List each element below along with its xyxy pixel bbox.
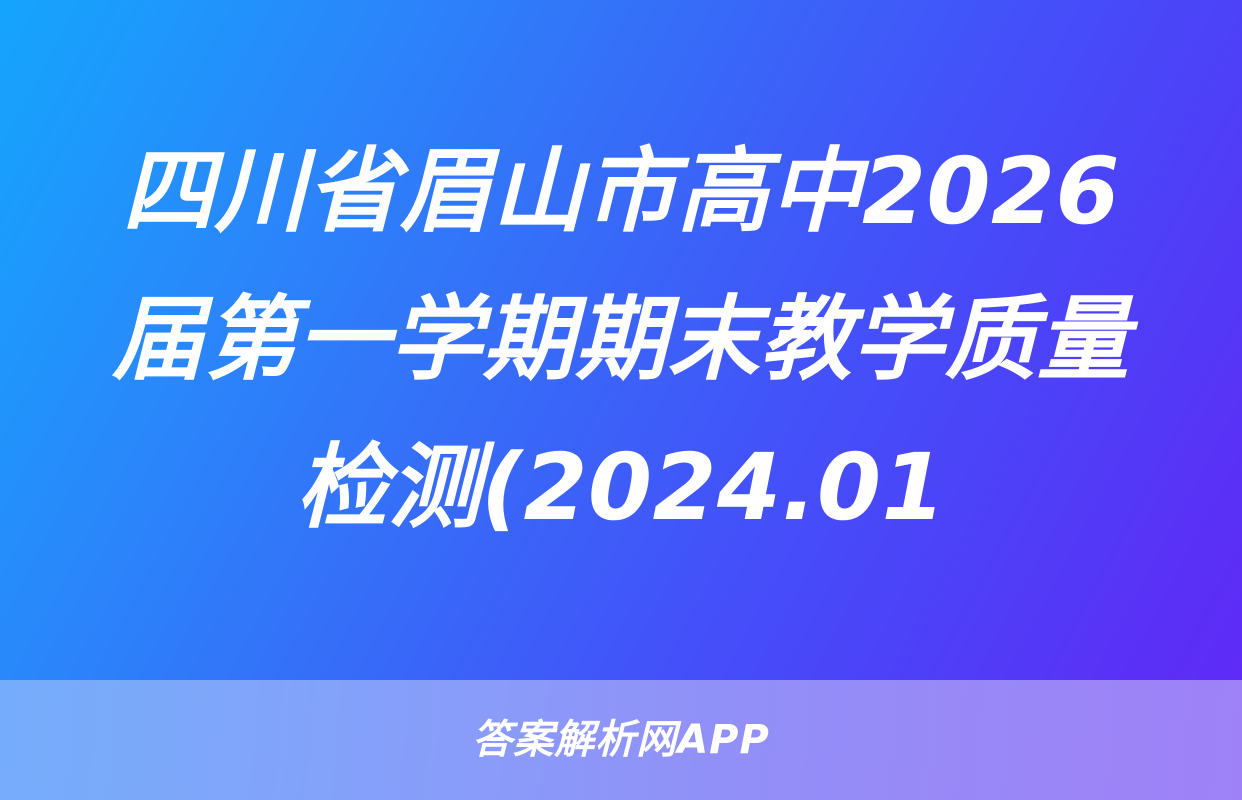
- title-line-2: 届第一学期期末教学质量: [81, 266, 1161, 414]
- title-hero-section: 四川省眉山市高中2026 届第一学期期末教学质量 检测(2024.01: [0, 0, 1242, 680]
- footer-watermark-band: 答案解析网APP: [0, 680, 1242, 800]
- page-title: 四川省眉山市高中2026 届第一学期期末教学质量 检测(2024.01: [71, 118, 1171, 562]
- title-line-1: 四川省眉山市高中2026: [81, 118, 1161, 266]
- poster-canvas: 四川省眉山市高中2026 届第一学期期末教学质量 检测(2024.01 答案解析…: [0, 0, 1242, 800]
- title-line-3: 检测(2024.01: [81, 414, 1161, 562]
- app-watermark-label: 答案解析网APP: [472, 716, 770, 764]
